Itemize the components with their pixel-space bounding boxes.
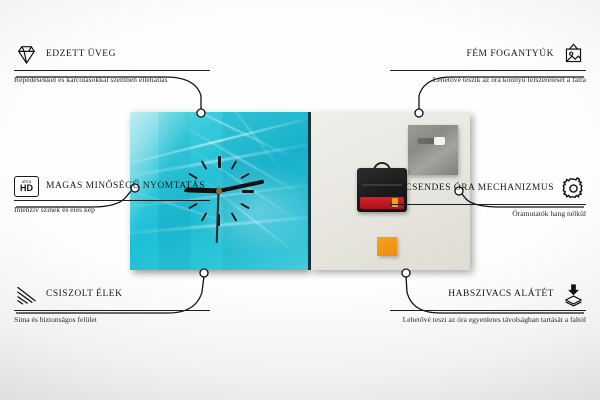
feature-head: FÉM FOGANTYÚK (390, 42, 586, 67)
feature-title: CSENDES ÓRA MECHANIZMUS (405, 183, 554, 195)
feature-quiet-mechanism[interactable]: CSENDES ÓRA MECHANIZMUS Óramutatók hang … (390, 176, 586, 219)
feature-divider (14, 70, 210, 71)
feature-description: Óramutatók hang nélkül (390, 209, 586, 219)
feature-description: Intenzív színek és éles kép (14, 205, 210, 215)
feature-title: HABSZIVACS ALÁTÉT (448, 289, 554, 301)
feature-divider (390, 70, 586, 71)
feature-high-quality-print[interactable]: ultra HD MAGAS MINŐSÉGŰ NYOMTATÁS Intenz… (14, 176, 210, 215)
feature-title: FÉM FOGANTYÚK (466, 49, 554, 61)
feature-metal-handles[interactable]: FÉM FOGANTYÚK Lehetővé teszik az óra kön… (390, 42, 586, 85)
press-down-icon (561, 282, 586, 307)
feature-description: Repedésekkel és karcolásokkal szemben el… (14, 75, 210, 85)
feature-divider (14, 200, 210, 201)
feature-description: Lehetővé teszi az óra egyenletes távolsá… (390, 315, 586, 325)
feature-polished-edges[interactable]: CSISZOLT ÉLEK Sima és biztonságos felüle… (14, 282, 210, 325)
feature-head: ultra HD MAGAS MINŐSÉGŰ NYOMTATÁS (14, 176, 210, 197)
feature-divider (390, 204, 586, 205)
ultra-hd-icon: ultra HD (14, 176, 39, 197)
diamond-icon (14, 42, 39, 67)
badge-hd-label: HD (20, 184, 33, 193)
infographic-stage: EDZETT ÜVEG Repedésekkel és karcolásokka… (0, 0, 600, 400)
picture-hanger-icon (561, 42, 586, 67)
feature-tempered-glass[interactable]: EDZETT ÜVEG Repedésekkel és karcolásokka… (14, 42, 210, 85)
feature-head: CSISZOLT ÉLEK (14, 282, 210, 307)
metal-hanger-plate (408, 125, 458, 175)
feature-description: Sima és biztonságos felület (14, 315, 210, 325)
feature-description: Lehetővé teszik az óra könnyű felszerelé… (390, 75, 586, 85)
feature-foam-pad[interactable]: HABSZIVACS ALÁTÉT Lehetővé teszi az óra … (390, 282, 586, 325)
gear-icon (561, 176, 586, 201)
feature-divider (390, 310, 586, 311)
feature-title: EDZETT ÜVEG (46, 49, 116, 61)
feature-title: MAGAS MINŐSÉGŰ NYOMTATÁS (46, 181, 205, 193)
feature-divider (14, 310, 210, 311)
feature-title: CSISZOLT ÉLEK (46, 289, 122, 301)
foam-spacer-pad (377, 237, 397, 256)
clock-center-cap (216, 188, 222, 194)
feature-head: CSENDES ÓRA MECHANIZMUS (390, 176, 586, 201)
hanger-slot (417, 138, 445, 144)
feature-head: HABSZIVACS ALÁTÉT (390, 282, 586, 307)
feature-head: EDZETT ÜVEG (14, 42, 210, 67)
polished-edges-icon (14, 282, 39, 307)
